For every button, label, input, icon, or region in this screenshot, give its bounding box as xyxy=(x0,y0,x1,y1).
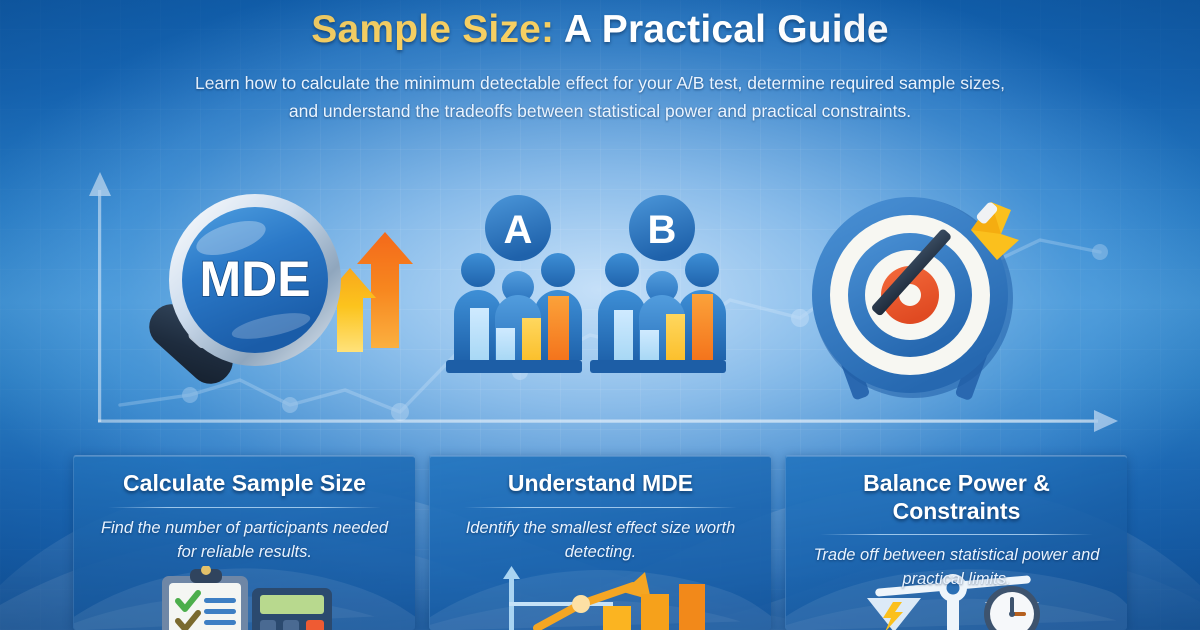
target-group xyxy=(805,188,1075,418)
card-1-title: Calculate Sample Size xyxy=(86,470,403,498)
card-3-content: Balance Power & Constraints Trade off be… xyxy=(786,456,1127,592)
card-2-desc-line-1: Identify the smallest effect size worth xyxy=(466,519,736,537)
magnifying-glass-icon: MDE xyxy=(135,180,435,420)
trend-arrow xyxy=(537,572,651,628)
page-subtitle-line-2: and understand the tradeoffs between sta… xyxy=(130,97,1070,125)
clock-icon xyxy=(984,586,1040,630)
page-title: Sample Size: A Practical Guide xyxy=(0,0,1200,53)
page-title-rest: A Practical Guide xyxy=(564,8,889,51)
clipboard-icon xyxy=(162,566,248,630)
card-1-description: Find the number of participants needed f… xyxy=(94,517,395,565)
card-1-desc-line-1: Find the number of participants xyxy=(101,519,328,537)
infographic-canvas: Sample Size: A Practical Guide Learn how… xyxy=(0,0,1200,630)
card-3-desc-line-1: Trade off between statistical power xyxy=(814,546,1068,564)
card-2-title: Understand MDE xyxy=(442,470,759,498)
card-3-description: Trade off between statistical power and … xyxy=(806,544,1107,592)
page-subtitle: Learn how to calculate the minimum detec… xyxy=(130,69,1070,126)
target-bullseye-icon xyxy=(805,188,1075,413)
card-2-divider xyxy=(464,507,737,508)
card-3-divider xyxy=(820,534,1093,535)
card-balance-power-constraints[interactable]: Balance Power & Constraints Trade off be… xyxy=(785,455,1127,630)
magnifier-label: MDE xyxy=(199,251,310,307)
card-1-divider xyxy=(108,507,381,508)
card-2-desc-line-2: detecting. xyxy=(565,543,637,561)
group-b-platform xyxy=(590,360,726,373)
hero-illustration-row: MDE xyxy=(0,170,1200,430)
card-calculate-sample-size[interactable]: Calculate Sample Size Find the number of… xyxy=(73,455,415,630)
group-a-platform xyxy=(446,360,582,373)
group-b-label: B xyxy=(648,208,677,252)
group-a-label: A xyxy=(504,208,533,252)
card-1-content: Calculate Sample Size Find the number of… xyxy=(74,456,415,564)
header: Sample Size: A Practical Guide Learn how… xyxy=(0,0,1200,126)
card-3-title: Balance Power & Constraints xyxy=(798,470,1115,525)
card-2-icon-wrap xyxy=(430,566,771,630)
page-title-highlight: Sample Size: xyxy=(311,8,554,51)
card-2-content: Understand MDE Identify the smallest eff… xyxy=(430,456,771,564)
growth-chart-icon xyxy=(493,566,708,630)
card-1-icon-wrap xyxy=(74,566,415,630)
card-2-description: Identify the smallest effect size worth … xyxy=(450,517,751,565)
calculator-icon xyxy=(252,588,332,630)
ab-test-group: A xyxy=(440,190,740,410)
card-understand-mde[interactable]: Understand MDE Identify the smallest eff… xyxy=(429,455,771,630)
ab-groups-illustration: A xyxy=(440,190,740,405)
page-subtitle-line-1: Learn how to calculate the minimum detec… xyxy=(130,69,1070,97)
feature-card-row: Calculate Sample Size Find the number of… xyxy=(0,455,1200,630)
mde-magnifier-group: MDE xyxy=(135,180,435,425)
clipboard-calculator-icon xyxy=(140,566,350,630)
